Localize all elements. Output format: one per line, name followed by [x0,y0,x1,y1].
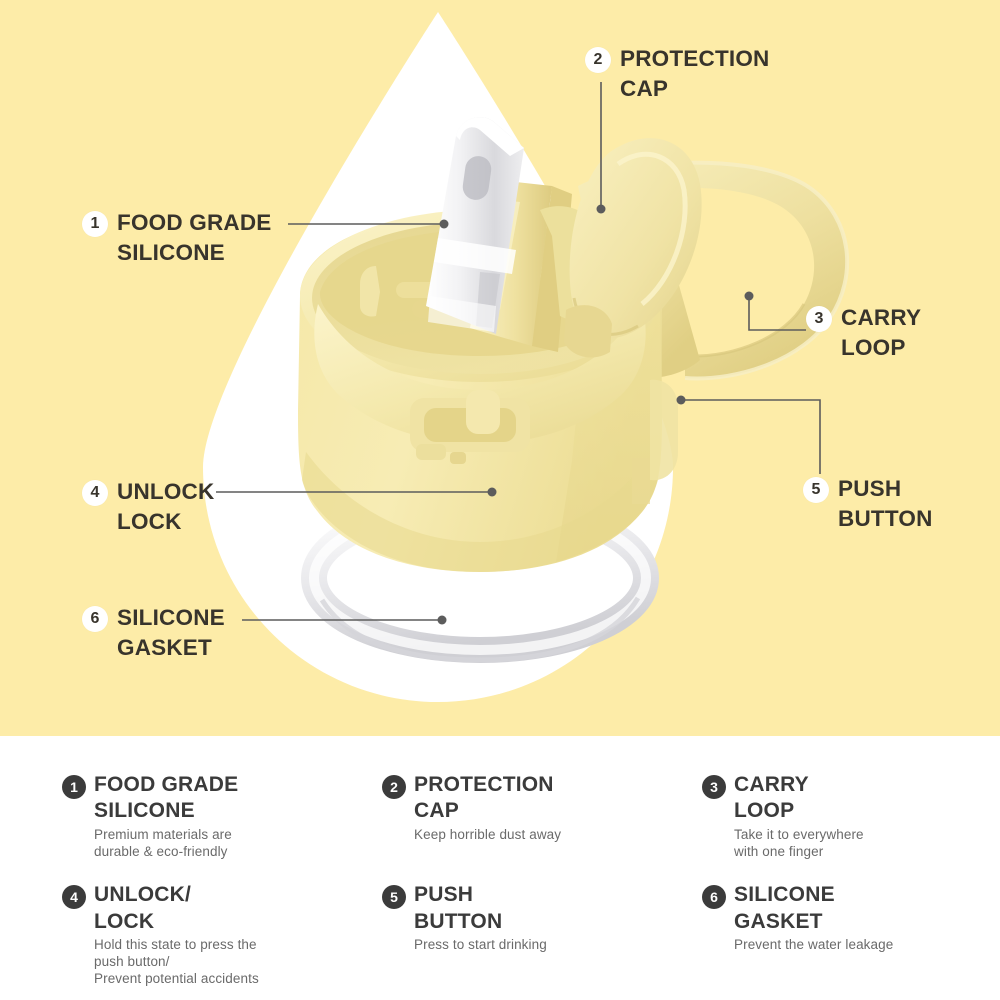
callout-badge-2: 2 [585,47,611,73]
infographic-page: 1 FOOD GRADE SILICONE 2 PROTECTION CAP 3… [0,0,1000,1000]
feature-title-1: FOOD GRADE SILICONE [94,772,238,825]
callout-label-6: SILICONE GASKET [117,603,225,663]
feature-heading: 4 UNLOCK/ LOCK [62,882,382,935]
callout-label-1: FOOD GRADE SILICONE [117,208,272,268]
feature-desc-4: Hold this state to press the push button… [94,937,382,987]
feature-list-panel: 1 FOOD GRADE SILICONE Premium materials … [0,736,1000,1000]
feature-item-food-grade-silicone: 1 FOOD GRADE SILICONE Premium materials … [62,772,382,860]
feature-title-6: SILICONE GASKET [734,882,835,935]
feature-desc-6: Prevent the water leakage [734,937,962,954]
feature-desc-5: Press to start drinking [414,937,702,954]
feature-heading: 6 SILICONE GASKET [702,882,962,935]
callout-food-grade-silicone: 1 FOOD GRADE SILICONE [82,208,272,268]
callout-label-3: CARRY LOOP [841,303,921,363]
callout-carry-loop: 3 CARRY LOOP [806,303,921,363]
feature-item-carry-loop: 3 CARRY LOOP Take it to everywhere with … [702,772,962,860]
callout-push-button: 5 PUSH BUTTON [803,474,933,534]
callout-label-5: PUSH BUTTON [838,474,933,534]
feature-badge-4: 4 [62,885,86,909]
callout-label-2: PROTECTION CAP [620,44,770,104]
feature-badge-3: 3 [702,775,726,799]
callout-silicone-gasket: 6 SILICONE GASKET [82,603,225,663]
feature-title-4: UNLOCK/ LOCK [94,882,191,935]
callout-protection-cap: 2 PROTECTION CAP [585,44,770,104]
feature-desc-2: Keep horrible dust away [414,827,702,844]
feature-desc-1: Premium materials are durable & eco-frie… [94,827,382,860]
feature-heading: 3 CARRY LOOP [702,772,962,825]
hero-panel: 1 FOOD GRADE SILICONE 2 PROTECTION CAP 3… [0,0,1000,736]
feature-item-silicone-gasket: 6 SILICONE GASKET Prevent the water leak… [702,882,962,987]
feature-badge-2: 2 [382,775,406,799]
feature-grid: 1 FOOD GRADE SILICONE Premium materials … [62,772,962,987]
product-image-bottle-lid [180,60,860,700]
feature-heading: 1 FOOD GRADE SILICONE [62,772,382,825]
feature-title-5: PUSH BUTTON [414,882,502,935]
callout-label-4: UNLOCK LOCK [117,477,214,537]
callout-badge-1: 1 [82,211,108,237]
feature-badge-6: 6 [702,885,726,909]
feature-item-protection-cap: 2 PROTECTION CAP Keep horrible dust away [382,772,702,860]
feature-item-push-button: 5 PUSH BUTTON Press to start drinking [382,882,702,987]
callout-badge-4: 4 [82,480,108,506]
feature-item-unlock-lock: 4 UNLOCK/ LOCK Hold this state to press … [62,882,382,987]
feature-heading: 2 PROTECTION CAP [382,772,702,825]
feature-title-2: PROTECTION CAP [414,772,554,825]
callout-unlock-lock: 4 UNLOCK LOCK [82,477,214,537]
feature-badge-1: 1 [62,775,86,799]
callout-badge-5: 5 [803,477,829,503]
callout-badge-3: 3 [806,306,832,332]
feature-heading: 5 PUSH BUTTON [382,882,702,935]
feature-desc-3: Take it to everywhere with one finger [734,827,962,860]
feature-badge-5: 5 [382,885,406,909]
callout-badge-6: 6 [82,606,108,632]
feature-title-3: CARRY LOOP [734,772,809,825]
